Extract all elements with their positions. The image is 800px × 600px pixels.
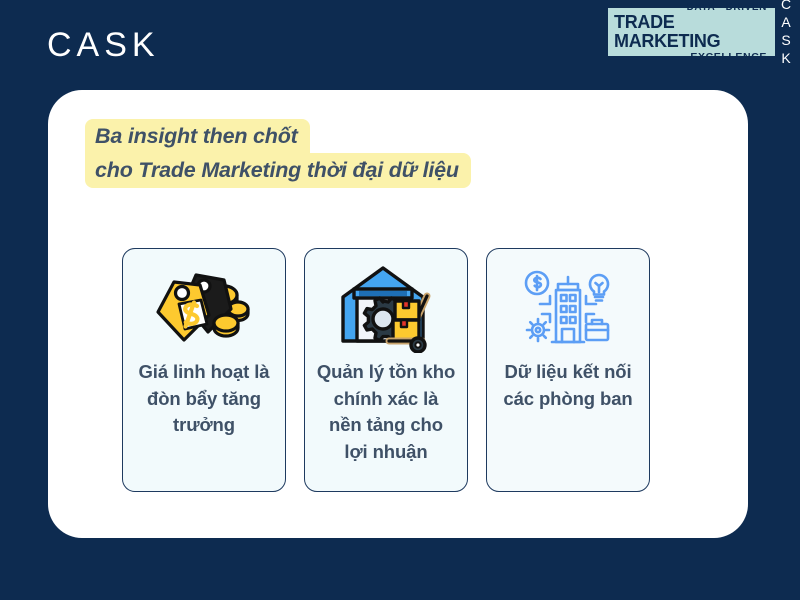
insight-card-inventory[interactable]: Quản lý tồn kho chính xác là nền tảng ch… [304, 248, 468, 492]
connected-departments-icon [520, 261, 616, 353]
headline: Ba insight then chốt cho Trade Marketing… [85, 119, 555, 188]
badge-line-data-driven: DATA - DRIVEN [687, 2, 767, 13]
slide-canvas: CASK DATA - DRIVEN TRADE MARKETING EXCEL… [0, 0, 800, 600]
insight-card-text: Quản lý tồn kho chính xác là nền tảng ch… [315, 359, 457, 465]
insight-card-data-connection[interactable]: Dữ liệu kết nối các phòng ban [486, 248, 650, 492]
headline-line-2: cho Trade Marketing thời đại dữ liệu [85, 153, 471, 188]
insight-card-text: Giá linh hoạt là đòn bẩy tăng trưởng [133, 359, 275, 439]
cask-logo: CASK [47, 25, 160, 65]
insight-card-pricing[interactable]: Giá linh hoạt là đòn bẩy tăng trưởng [122, 248, 286, 492]
insight-card-list: Giá linh hoạt là đòn bẩy tăng trưởng [122, 248, 650, 492]
insight-card-text: Dữ liệu kết nối các phòng ban [497, 359, 639, 412]
price-tag-money-icon [152, 261, 256, 353]
trade-marketing-excellence-badge: DATA - DRIVEN TRADE MARKETING EXCELLENCE… [608, 8, 793, 56]
warehouse-inventory-icon [333, 261, 439, 353]
badge-box: DATA - DRIVEN TRADE MARKETING EXCELLENCE [608, 8, 775, 56]
badge-vertical-cask-label: CASK [779, 8, 793, 56]
headline-line-1: Ba insight then chốt [85, 119, 310, 154]
badge-line-trade-marketing: TRADE MARKETING [614, 13, 767, 51]
badge-line-excellence: EXCELLENCE [690, 51, 767, 63]
